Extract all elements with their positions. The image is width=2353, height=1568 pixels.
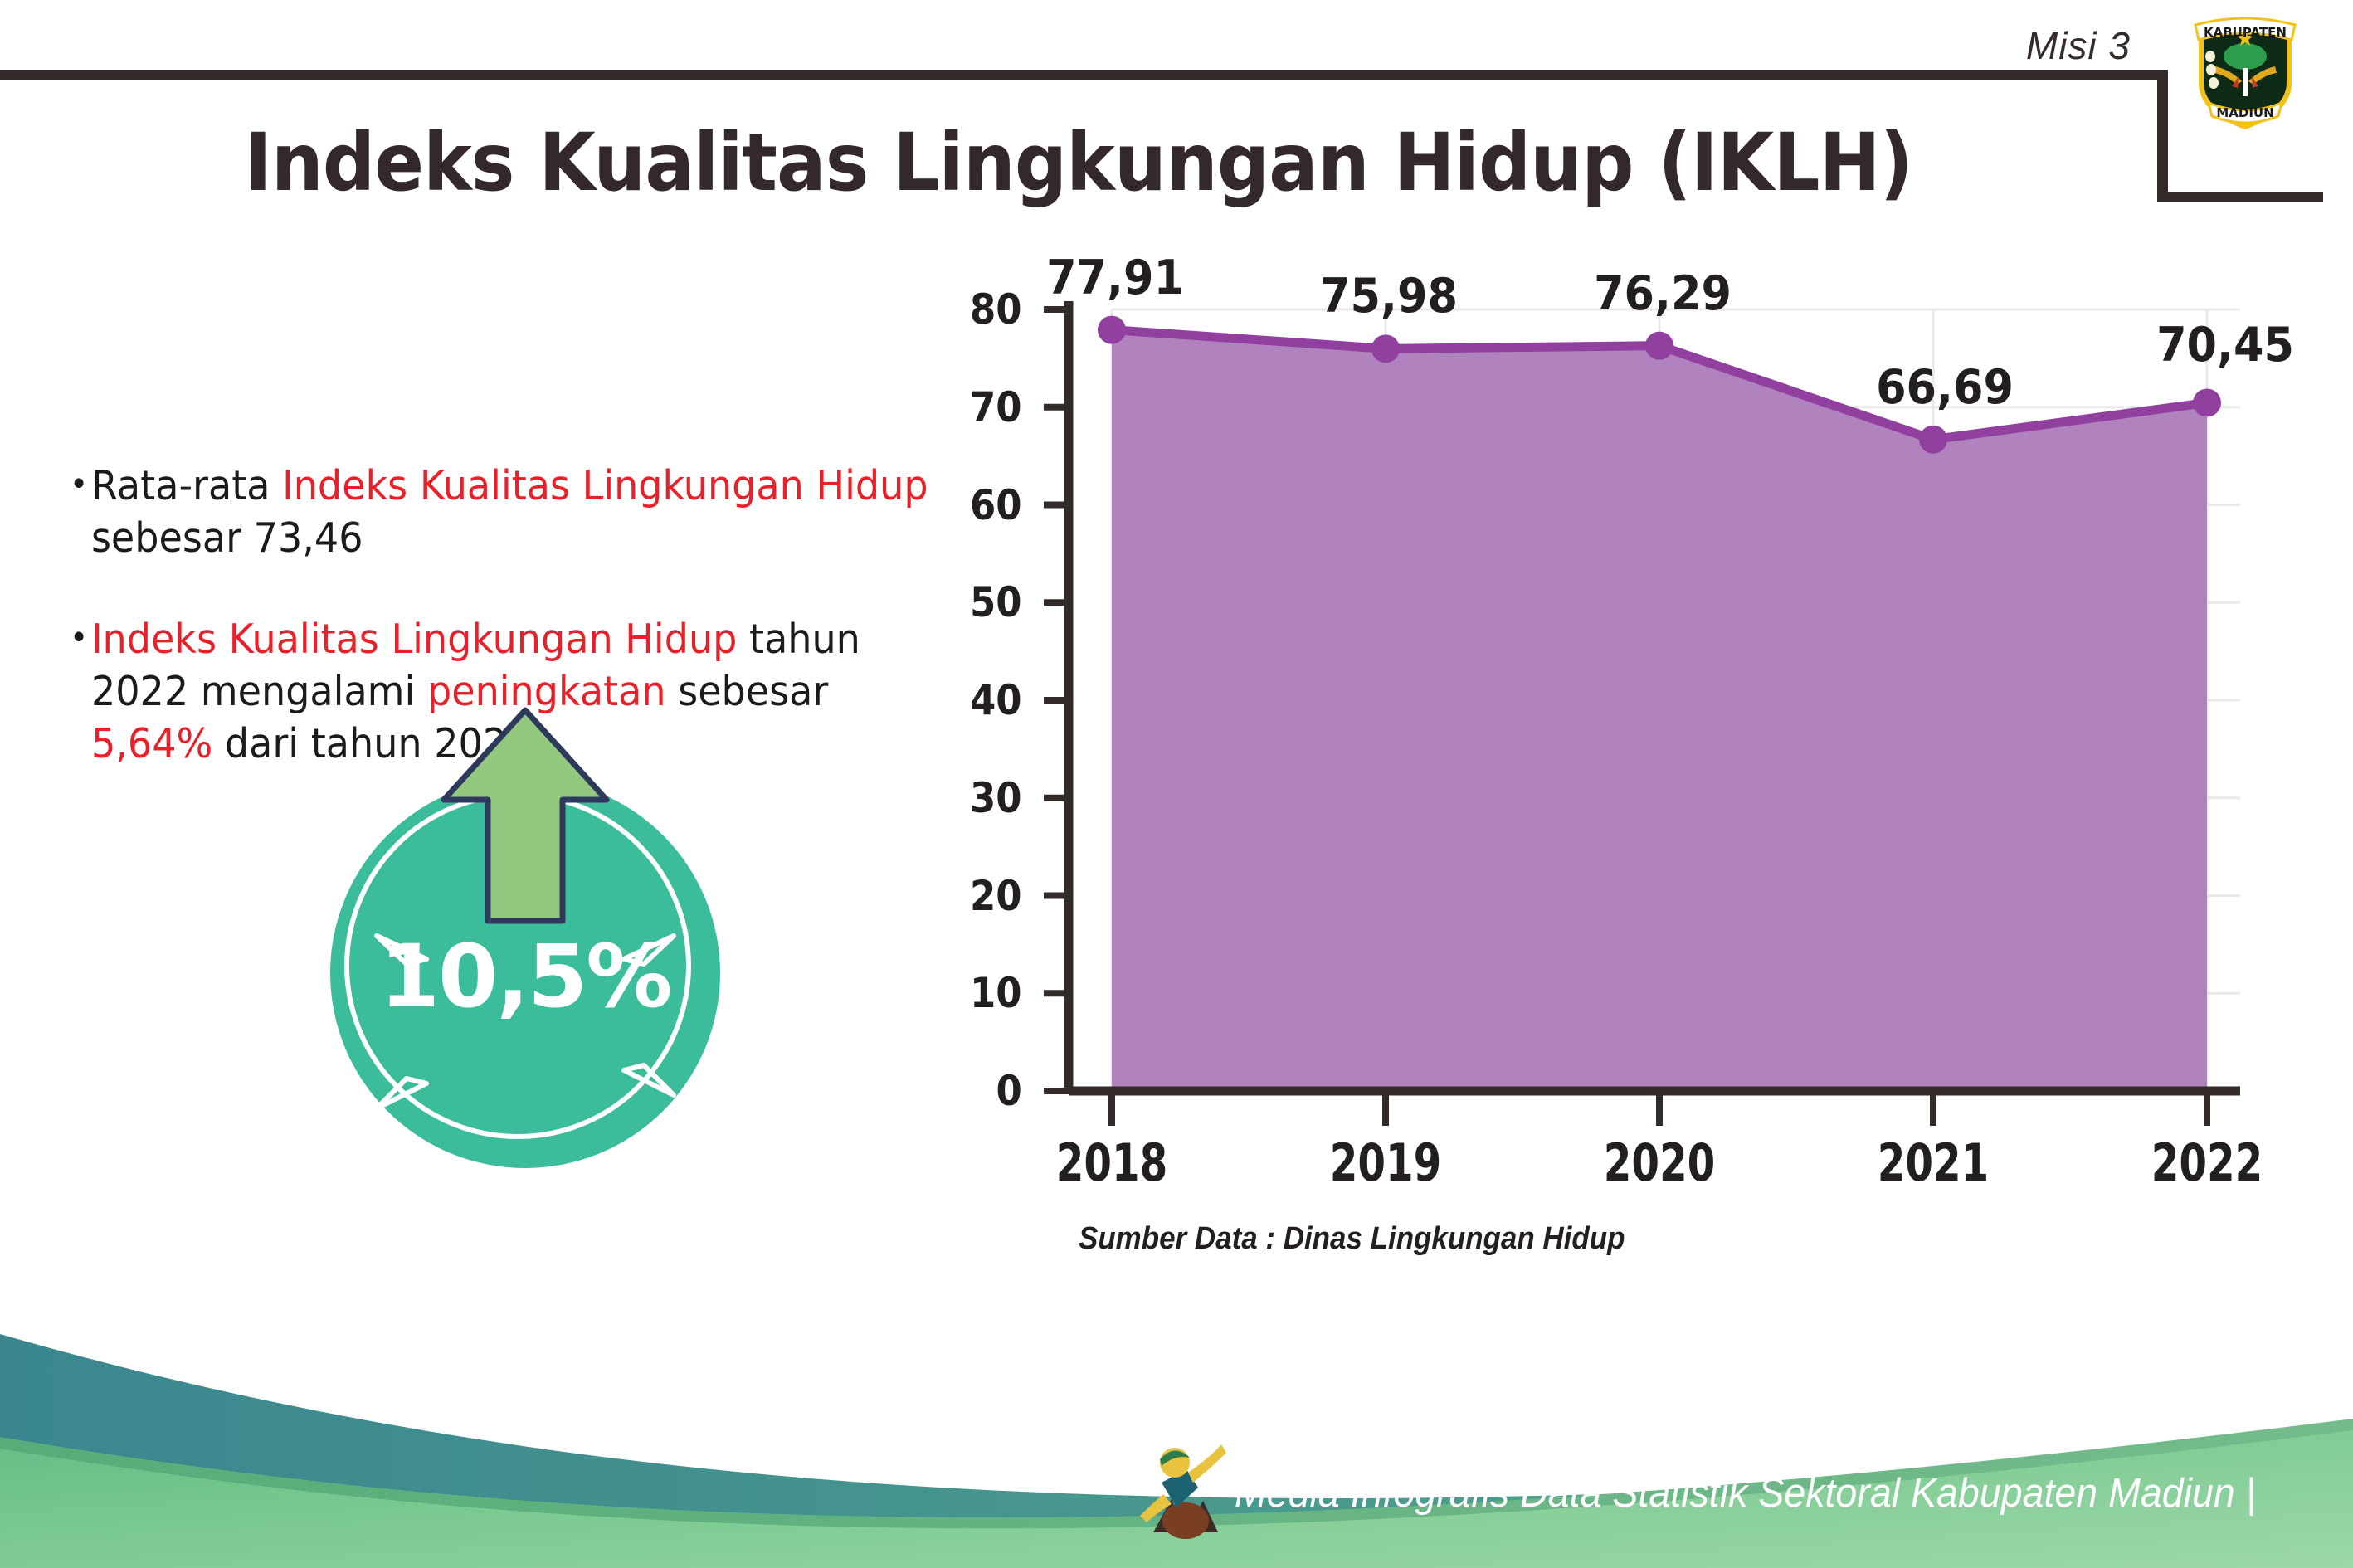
data-point-label: 66,69 [1876, 360, 2014, 415]
data-point-label: 70,45 [2156, 318, 2294, 373]
mission-label: Misi 3 [2026, 23, 2131, 68]
y-axis-tick-label: 20 [970, 872, 1022, 920]
data-point-marker[interactable] [1645, 332, 1673, 360]
area-fill [1112, 330, 2207, 1091]
bullet-item: •Rata-rata Indeks Kualitas Lingkungan Hi… [70, 460, 935, 564]
y-axis-tick-label: 30 [970, 774, 1022, 822]
bullet-marker-icon: • [70, 614, 88, 662]
iklh-area-chart: 807060504030201002018201920202021202277,… [979, 295, 2240, 1207]
increase-badge: 10,5% [330, 778, 720, 1168]
y-axis-tick-label: 50 [970, 578, 1022, 626]
data-point-label: 77,91 [1046, 251, 1184, 305]
data-point-marker[interactable] [1371, 334, 1400, 363]
chart-canvas [979, 295, 2240, 1207]
crest-top-label: KABUPATEN [2204, 25, 2287, 40]
badge-corner-triangle-bottom-right [619, 1060, 677, 1108]
bracket-vertical-bar [2157, 70, 2168, 202]
up-arrow-icon [436, 707, 615, 927]
x-axis-tick-label: 2020 [1604, 1132, 1716, 1193]
data-point-marker[interactable] [1919, 426, 1947, 454]
x-axis-tick-label: 2022 [2151, 1132, 2263, 1193]
y-axis-tick-label: 10 [970, 969, 1022, 1017]
crest-bottom-label: MADIUN [2216, 105, 2273, 120]
y-axis-tick-label: 60 [970, 481, 1022, 529]
data-point-marker[interactable] [2193, 388, 2221, 416]
bullet-highlight-text: Indeks Kualitas Lingkungan Hidup [282, 462, 928, 509]
data-point-label: 76,29 [1594, 266, 1732, 321]
dancer-logo-icon [1138, 1439, 1230, 1547]
footer-caption: Media Infografis Data Statistik Sektoral… [1235, 1470, 2256, 1517]
source-note: Sumber Data : Dinas Lingkungan Hidup [1079, 1221, 1625, 1257]
y-axis-tick-label: 40 [970, 676, 1022, 724]
y-axis-tick-label: 80 [970, 285, 1022, 334]
bullet-plain-text: Rata-rata [91, 462, 282, 509]
bullet-text: Rata-rata Indeks Kualitas Lingkungan Hid… [91, 460, 935, 564]
header-rule [0, 70, 2167, 80]
x-axis-tick-label: 2021 [1878, 1132, 1990, 1193]
bullet-highlight-text: Indeks Kualitas Lingkungan Hidup [91, 616, 737, 663]
bullet-plain-text: sebesar [666, 668, 829, 715]
data-point-label: 75,98 [1320, 269, 1458, 324]
kabupaten-madiun-crest-icon: KABUPATEN MADIUN [2190, 7, 2300, 133]
bullet-plain-text: sebesar 73,46 [91, 514, 363, 562]
page-title: Indeks Kualitas Lingkungan Hidup (IKLH) [86, 116, 2071, 209]
x-axis-tick-label: 2018 [1056, 1132, 1168, 1193]
y-axis-tick-label: 70 [970, 383, 1022, 431]
bullet-highlight-text: 5,64% [91, 720, 212, 767]
x-axis-tick-label: 2019 [1330, 1132, 1442, 1193]
data-point-marker[interactable] [1098, 316, 1126, 344]
badge-corner-triangle-bottom-left [373, 1074, 431, 1122]
badge-value: 10,5% [330, 926, 720, 1027]
bracket-horizontal-bar [2157, 192, 2323, 202]
y-axis-tick-label: 0 [996, 1067, 1022, 1115]
bullet-marker-icon: • [70, 460, 88, 509]
